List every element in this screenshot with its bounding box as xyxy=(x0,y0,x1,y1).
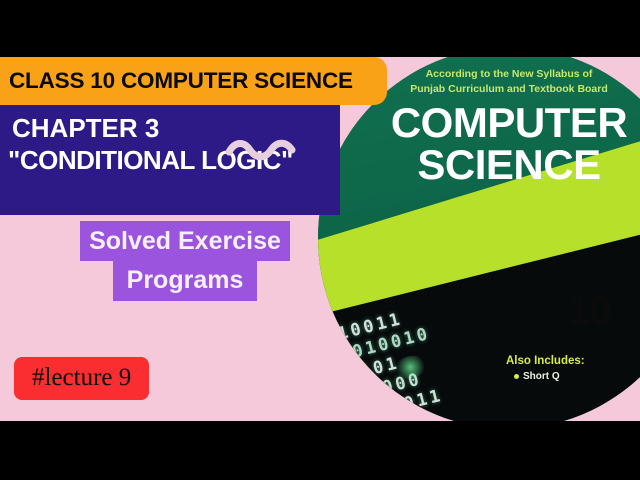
bullet-dot-icon xyxy=(514,374,519,379)
squiggle-decoration-icon xyxy=(225,139,303,161)
book-syllabus-line-1: According to the New Syllabus of xyxy=(374,67,640,82)
book-title-line-1: COMPUTER xyxy=(391,99,627,146)
class-banner: CLASS 10 COMPUTER SCIENCE xyxy=(0,57,387,105)
also-includes-bullet-text: Short Q xyxy=(523,371,560,382)
solved-exercise-line-2: Programs xyxy=(113,261,258,301)
also-includes-label: Also Includes: xyxy=(506,355,585,367)
lecture-number-badge: #lecture 9 xyxy=(14,357,149,400)
solved-exercise-heading: Solved Exercise Programs xyxy=(58,221,312,301)
solved-exercise-line-1: Solved Exercise xyxy=(80,221,290,261)
letterbox-top xyxy=(0,0,640,57)
book-syllabus-line-2: Punjab Curriculum and Textbook Board xyxy=(374,82,640,97)
also-includes-bullet-row: Short Q xyxy=(514,371,585,382)
book-grade-number: 10 xyxy=(568,289,611,334)
letterbox-bottom xyxy=(0,421,640,480)
book-title-line-2: SCIENCE xyxy=(318,144,640,186)
class-banner-label: CLASS 10 COMPUTER SCIENCE xyxy=(9,68,353,94)
thumbnail-canvas: M U L T A N K I T A B G H A R xyxy=(0,57,640,421)
lecture-number-label: #lecture 9 xyxy=(32,364,131,391)
book-cover-image: M U L T A N K I T A B G H A R xyxy=(318,57,640,421)
youtube-thumbnail: M U L T A N K I T A B G H A R xyxy=(0,0,640,480)
book-also-includes: Also Includes: Short Q xyxy=(506,355,585,382)
book-title: COMPUTER SCIENCE xyxy=(318,102,640,186)
